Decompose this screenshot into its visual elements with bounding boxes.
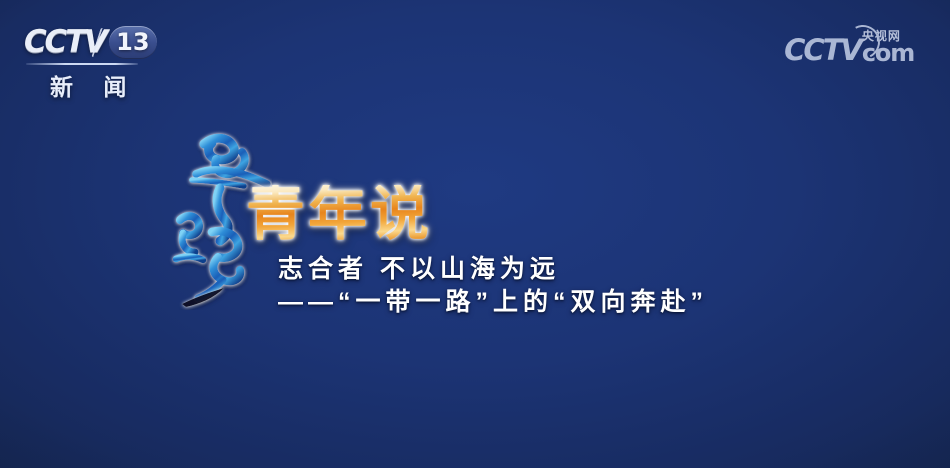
- programme-headline: 青年说: [246, 185, 432, 244]
- subtitle-line-2: ——“一带一路”上的“双向奔赴”: [278, 286, 708, 319]
- programme-subtitles: 志合者 不以山海为远 ——“一带一路”上的“双向奔赴”: [278, 253, 708, 319]
- cctv-13-logo: CCTV 13 新 闻: [24, 24, 184, 98]
- broadcast-title-card: CCTV 13 新 闻 CCTV 央视网 com: [0, 0, 950, 468]
- watermark-right-group: 央视网 com: [862, 30, 914, 65]
- subtitle-line-1: 志合者 不以山海为远: [278, 253, 708, 286]
- channel-number-pill: 13: [109, 26, 157, 59]
- programme-title-block: 青年说 志合者 不以山海为远 ——“一带一路”上的“双向奔赴”: [168, 128, 808, 328]
- channel-number: 13: [116, 30, 149, 54]
- channel-name-label: 新 闻: [50, 68, 138, 102]
- logo-underline: [26, 63, 138, 65]
- cctv-13-logo-row: CCTV 13: [24, 24, 184, 60]
- cctv-com-watermark: CCTV 央视网 com: [784, 30, 914, 65]
